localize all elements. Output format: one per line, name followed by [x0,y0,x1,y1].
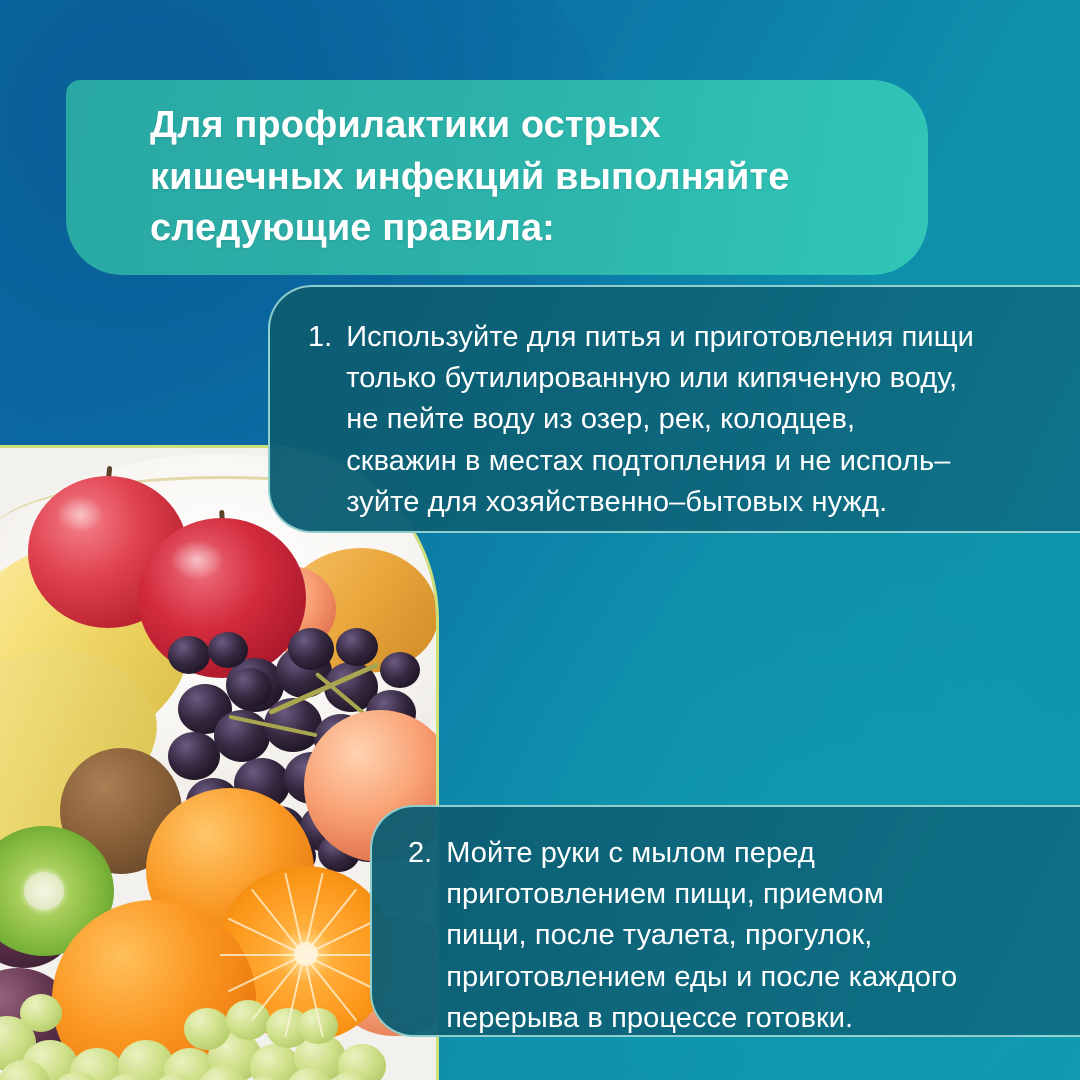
grape [168,732,220,780]
grape [228,668,272,708]
list-item-text: Используйте для питья и приготовления пи… [346,317,974,523]
grape [380,652,420,688]
list-item: 1. Используйте для питья и приготовления… [308,317,1052,523]
list-item-text: Мойте руки с мылом перед приготовлением … [446,833,957,1039]
list-item-number: 1. [308,317,332,358]
grape [336,628,378,666]
kiwi-core [24,872,64,910]
grape [168,636,210,674]
apple-highlight [170,540,224,580]
title-card: Для профилактики острых кишечных инфекци… [66,80,928,275]
orange-segment-line [220,954,304,956]
rule-card-2: 2. Мойте руки с мылом перед приготовлени… [370,805,1080,1037]
grape [288,628,334,670]
apple-highlight [56,496,104,532]
green-grape [20,994,62,1032]
poster-root: Для профилактики острых кишечных инфекци… [0,0,1080,1080]
list-item-number: 2. [408,833,432,874]
rule-card-1: 1. Используйте для питья и приготовления… [268,285,1080,533]
page-title: Для профилактики острых кишечных инфекци… [150,100,789,255]
grape [208,632,248,668]
green-grape [184,1008,230,1050]
list-item: 2. Мойте руки с мылом перед приготовлени… [408,833,1054,1039]
